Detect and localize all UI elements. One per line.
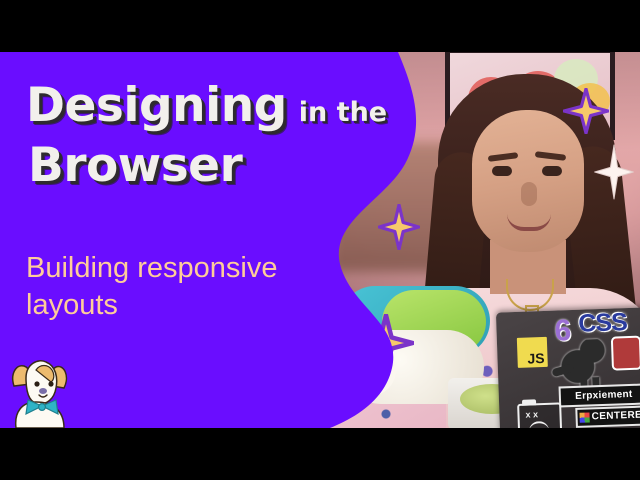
folder-face-mouth xyxy=(529,421,549,428)
mouth xyxy=(507,214,551,231)
dead-folder-sticker: x x xyxy=(517,402,562,428)
folder-face-eyes: x x xyxy=(525,410,538,419)
css-sticker: CSS xyxy=(578,310,627,337)
nose xyxy=(521,182,537,206)
erpxiement-sticker: Erpxiement xyxy=(561,385,640,405)
laptop-lid: 6 CSS JS Erpxiement CENTERED x x xyxy=(496,307,640,428)
video-content[interactable]: 6 CSS JS Erpxiement CENTERED x x xyxy=(0,52,640,428)
trex-sticker xyxy=(557,339,609,387)
sparkle-white-right xyxy=(592,144,636,200)
letterbox-bar-top xyxy=(0,0,640,52)
video-frame: 6 CSS JS Erpxiement CENTERED x x xyxy=(0,0,640,480)
eye-left xyxy=(492,166,512,176)
eye-right xyxy=(542,166,562,176)
cartoon-dog-logo xyxy=(6,352,78,428)
centered-sticker: CENTERED xyxy=(577,407,640,426)
sparkle-gold-upper xyxy=(563,88,609,134)
letterbox-bar-bottom xyxy=(0,428,640,480)
js-sticker: JS xyxy=(517,337,548,368)
eyebrow-right xyxy=(535,151,567,161)
red-square-sticker xyxy=(613,338,640,369)
eyebrow-left xyxy=(488,152,519,162)
trex-tail xyxy=(551,363,574,377)
